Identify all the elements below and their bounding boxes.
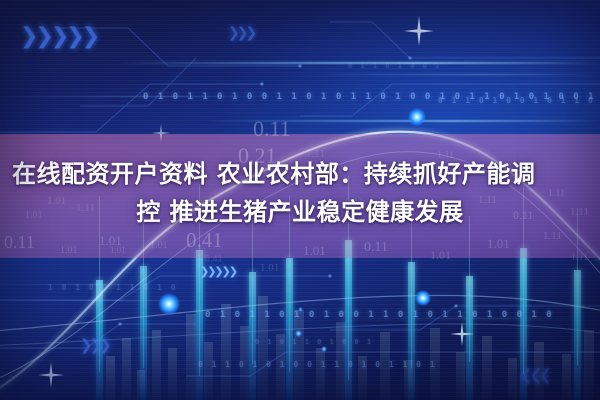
chart-bar-highlight — [466, 276, 473, 400]
light-streak — [120, 62, 600, 64]
chart-bar — [584, 330, 594, 400]
chart-bar-highlight — [574, 270, 581, 400]
chart-bar — [534, 342, 544, 400]
decimal-number: 1.01 — [99, 233, 122, 249]
chart-bar-highlight — [196, 250, 203, 400]
chevron-right-icon: ❯❯❯❯❯ — [20, 26, 97, 48]
news-banner: 0.110.210.410.111.011.011.011.011.011.11… — [0, 0, 600, 400]
chart-bar — [482, 336, 492, 400]
headline-line-2: 控 推进生猪产业稳定健康发展 — [12, 193, 588, 231]
binary-strip: 0 1 1 0 1 0 0 1 — [348, 62, 441, 70]
binary-strip: 0 1 0 1 1 0 1 0 1 0 0 1 1 0 1 0 1 1 0 1 … — [205, 310, 554, 320]
decimal-number: 0.11 — [364, 240, 388, 256]
chart-bar — [186, 314, 196, 400]
light-streak — [330, 318, 580, 319]
chevron-right-icon: ❯❯❯❯❯ — [200, 266, 236, 277]
chart-bar-highlight — [408, 262, 415, 400]
decimal-number: 0.41 — [205, 254, 223, 265]
light-streak — [0, 284, 150, 285]
binary-strip: 0 1 1 0 1 0 1 0 0 1 1 0 1 0 1 1 0 1 — [198, 360, 437, 369]
decimal-number: 1.01 — [430, 248, 451, 263]
chart-bar — [276, 334, 285, 400]
chart-bar — [152, 330, 161, 400]
chart-bar — [358, 356, 367, 400]
chart-bar — [404, 360, 413, 400]
chart-bar-highlight — [96, 280, 103, 400]
chevron-left-icon: ❮❮❮ — [520, 368, 549, 383]
chart-bar — [508, 358, 517, 400]
chart-bar — [258, 296, 268, 400]
light-streak — [300, 74, 600, 75]
binary-strip: 1 0 1 0 0 1 1 0 1 0 — [48, 283, 178, 292]
decimal-number: 1.11 — [571, 252, 588, 263]
glow-node — [295, 330, 302, 337]
sparkle-icon — [450, 322, 474, 346]
decimal-number: 1.01 — [260, 262, 279, 274]
chart-bar — [562, 354, 571, 400]
chart-bar-highlight — [520, 248, 527, 400]
page-title: 在线配资开户资料 农业农村部：持续抓好产能调 控 推进生猪产业稳定健康发展 — [0, 155, 600, 231]
glow-node — [298, 307, 303, 312]
headline-line-1: 在线配资开户资料 农业农村部：持续抓好产能调 — [12, 155, 588, 193]
glow-node — [408, 108, 426, 126]
chart-bar-highlight — [140, 266, 147, 400]
decimal-number: 0.11 — [4, 232, 35, 253]
chart-bar-highlight — [345, 240, 352, 400]
glow-node — [158, 293, 180, 315]
chart-bar-highlight — [249, 272, 256, 400]
candlestick-chart — [0, 100, 600, 400]
chart-bar-highlight — [286, 258, 293, 400]
chart-bar — [456, 352, 465, 400]
chart-bar — [137, 370, 145, 400]
chevron-right-icon: ❯❯❯ — [228, 26, 254, 40]
binary-strip: 0 1 1 0 1 0 0 1 0 1 1 0 1 0 1 0 — [438, 96, 600, 105]
chart-bar — [122, 338, 131, 400]
chart-bar — [316, 348, 325, 400]
decimal-number: 0.41 — [186, 228, 223, 253]
decimal-number: 1.01 — [150, 240, 168, 251]
glow-node — [321, 346, 327, 352]
sparkle-icon — [152, 124, 170, 142]
chart-bar — [221, 304, 231, 400]
decimal-number: 1.01 — [110, 245, 126, 255]
chart-bar — [336, 322, 346, 400]
light-streak — [0, 300, 200, 301]
decimal-number: 1.01 — [60, 245, 78, 256]
decimal-number: 1.01 — [303, 243, 326, 259]
chart-bar — [240, 326, 249, 400]
sparkle-icon — [38, 362, 64, 388]
decimal-number: 1.01 — [487, 236, 510, 252]
chart-bar — [168, 348, 177, 400]
decimal-number: 1.11 — [543, 230, 562, 242]
chevron-right-icon: ❯❯❯ — [80, 338, 109, 353]
chart-bar — [380, 332, 390, 400]
binary-strip: 0 1 0 1 1 0 1 0 0 1 1 0 1 0 1 1 0 1 0 0 … — [143, 92, 600, 102]
chart-bar — [204, 342, 213, 400]
decimal-number: 0.11 — [253, 116, 291, 142]
chart-bar — [106, 356, 115, 400]
chart-bar — [294, 310, 304, 400]
binary-strip: 0 1 0 1 1 0 1 0 0 1 — [255, 338, 373, 346]
light-streak — [210, 120, 600, 122]
sparkle-icon — [404, 16, 434, 46]
chart-bar — [430, 328, 440, 400]
light-streak — [0, 96, 260, 97]
glow-node — [415, 290, 431, 306]
